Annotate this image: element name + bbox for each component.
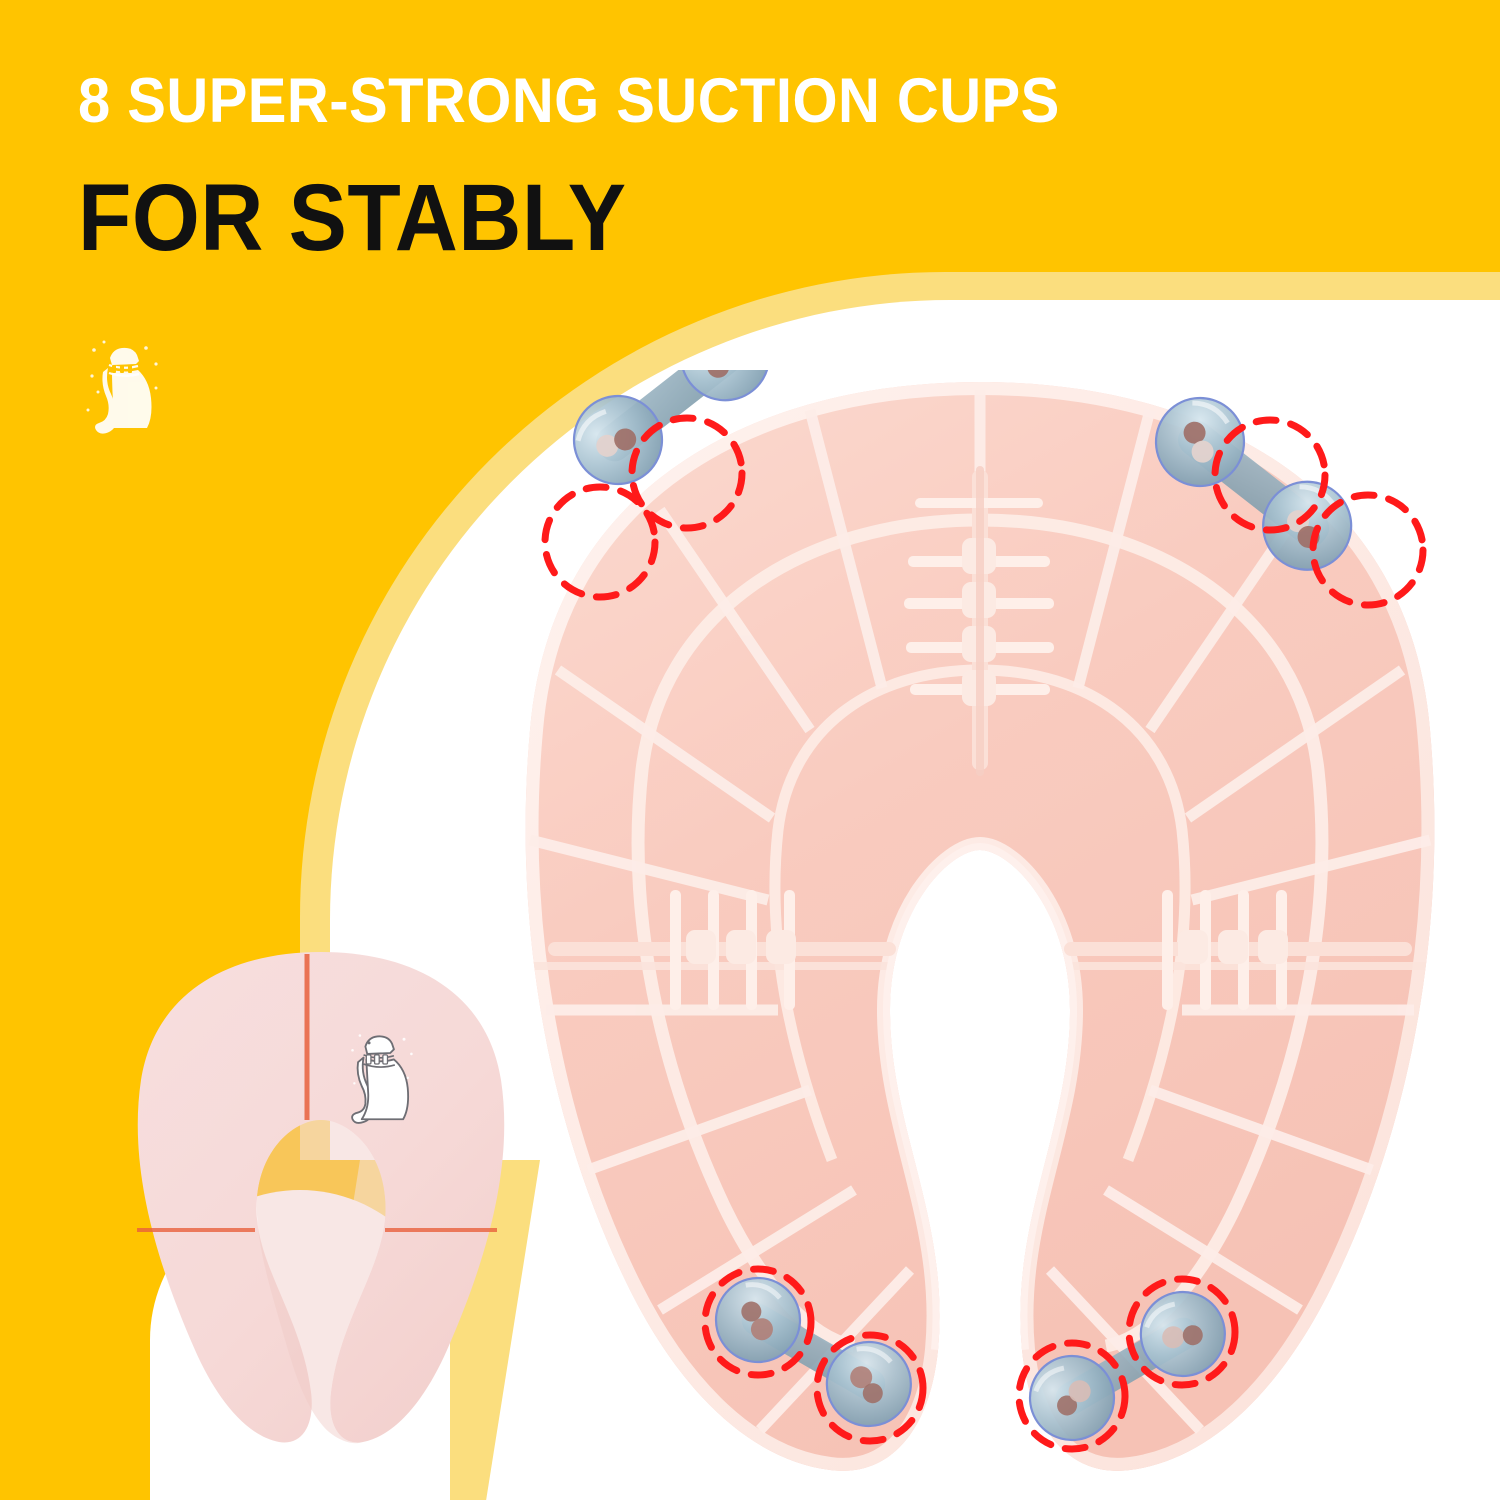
polar-bear-logo-watermark [72,330,192,450]
headline-line-1: 8 SUPER-STRONG SUCTION CUPS [78,70,1060,133]
promo-image-canvas: 8 SUPER-STRONG SUCTION CUPS FOR STABLY [0,0,1500,1500]
unfolded-seat-product-photo [510,370,1450,1500]
folded-seat-product-photo [95,930,575,1490]
polar-bear-icon [72,330,192,450]
headline-block: 8 SUPER-STRONG SUCTION CUPS FOR STABLY [78,70,1145,266]
headline-line-2: FOR STABLY [78,171,1060,266]
